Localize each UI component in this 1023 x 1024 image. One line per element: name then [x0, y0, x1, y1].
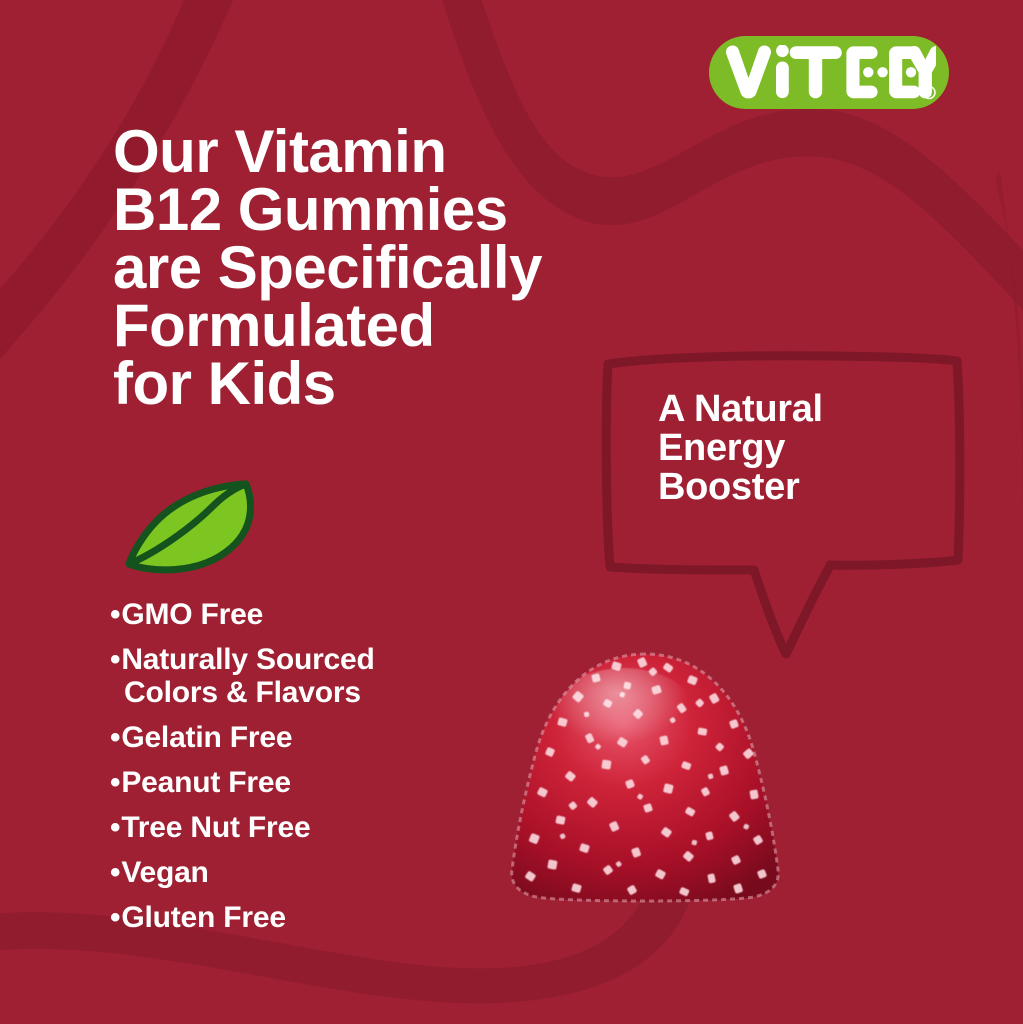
benefits-list: •GMO Free •Naturally Sourced Colors & Fl…: [110, 598, 530, 946]
benefit-label-wrap: Colors & Flavors: [124, 676, 361, 709]
bullet-icon: •: [110, 598, 120, 631]
bullet-icon: •: [110, 856, 120, 889]
benefit-label: GMO Free: [121, 598, 263, 631]
product-marketing-poster: R Our Vitamin B12 Gummies are Specifical…: [0, 0, 1023, 1024]
brand-logo-wordmark: R: [722, 45, 936, 101]
callout-speech-bubble: A Natural Energy Booster: [596, 348, 968, 660]
list-item: •Tree Nut Free: [110, 811, 530, 844]
svg-text:R: R: [926, 89, 932, 98]
benefit-label: Peanut Free: [121, 766, 291, 799]
benefit-label: Vegan: [121, 856, 208, 889]
decor-swoosh-right: [995, 170, 1023, 520]
bullet-icon: •: [110, 643, 120, 676]
benefit-label: Naturally Sourced: [121, 643, 374, 676]
bullet-icon: •: [110, 766, 120, 799]
callout-line-3: Booster: [658, 468, 958, 507]
benefit-label: Gluten Free: [121, 901, 286, 934]
callout-line-1: A Natural: [658, 390, 958, 429]
leaf-icon: [113, 468, 273, 578]
list-item: •Naturally Sourced Colors & Flavors: [110, 643, 530, 709]
benefit-label: Gelatin Free: [121, 721, 292, 754]
list-item: •Gluten Free: [110, 901, 530, 934]
brand-logo: R: [709, 36, 949, 109]
bullet-icon: •: [110, 901, 120, 934]
list-item: •Vegan: [110, 856, 530, 889]
callout-text: A Natural Energy Booster: [658, 390, 958, 507]
list-item: •Peanut Free: [110, 766, 530, 799]
product-gummy-image: [492, 648, 798, 910]
callout-line-2: Energy: [658, 429, 958, 468]
bullet-icon: •: [110, 811, 120, 844]
list-item: •Gelatin Free: [110, 721, 530, 754]
benefit-label: Tree Nut Free: [121, 811, 310, 844]
headline-line-3: are Specifically: [113, 239, 713, 297]
headline-line-2: B12 Gummies: [113, 181, 713, 239]
list-item: •GMO Free: [110, 598, 530, 631]
headline-line-1: Our Vitamin: [113, 123, 713, 181]
bullet-icon: •: [110, 721, 120, 754]
headline-line-4: Formulated: [113, 297, 713, 355]
